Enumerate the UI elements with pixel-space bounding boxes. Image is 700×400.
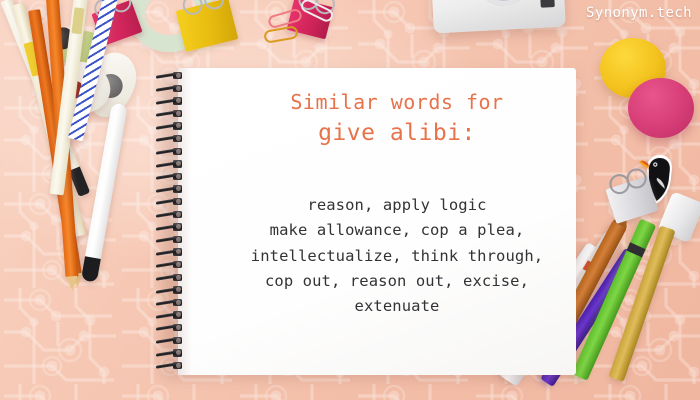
notebook: Similar words for give alibi: reason, ap… (152, 68, 576, 378)
synonym-line: intellectualize, think through, (218, 244, 576, 269)
paper-clip-white (299, 0, 335, 24)
synonym-line: cop out, reason out, excise, (218, 269, 576, 294)
pencil-orange-a (46, 0, 79, 278)
spiral-ring (156, 324, 183, 331)
spiral-ring (156, 223, 183, 230)
camera (430, 0, 566, 33)
binder-clip-yellow (176, 0, 239, 52)
paper-clip-pink (267, 8, 303, 30)
brand-logo: Synonym.tech (586, 5, 692, 21)
spiral-ring (156, 148, 183, 155)
marker-white-left (81, 103, 128, 283)
paper-clip-gold (263, 25, 299, 44)
spiral-binding (152, 64, 192, 379)
spiral-ring (156, 135, 183, 142)
binder-clip-pink-2 (287, 0, 334, 39)
washi-tape-roll (121, 0, 221, 60)
notebook-page: Similar words for give alibi: reason, ap… (178, 68, 576, 375)
pen-cream (50, 0, 88, 195)
spiral-ring (156, 261, 183, 268)
binder-clip-pink (91, 0, 142, 46)
glue-stick-cap (657, 191, 700, 243)
synonym-list: reason, apply logic make allowance, cop … (218, 193, 576, 319)
spiral-ring (156, 198, 183, 205)
toucan-sticker (635, 146, 683, 208)
camera-flash (540, 0, 555, 8)
camera-lens (474, 0, 533, 7)
spiral-ring (156, 160, 183, 167)
eraser-bird (57, 27, 108, 71)
eraser-fried-egg (45, 58, 114, 118)
spiral-ring (156, 299, 183, 306)
notebook-content: Similar words for give alibi: reason, ap… (218, 90, 576, 319)
spiral-ring (156, 362, 183, 369)
spiral-ring (156, 110, 183, 117)
spiral-ring (156, 337, 183, 344)
spiral-ring (156, 248, 183, 255)
page-title-term: give alibi: (218, 118, 576, 150)
macaron-yellow (600, 38, 666, 98)
screenshot-root: Similar words for give alibi: reason, ap… (0, 0, 700, 400)
macaron-pink (628, 78, 694, 138)
pen-blue-dotted (68, 0, 119, 141)
spiral-ring (156, 72, 183, 79)
pencil-orange-b (28, 9, 82, 276)
spiral-ring (156, 274, 183, 281)
spiral-ring (156, 185, 183, 192)
binder-clip-silver (606, 176, 659, 224)
spiral-ring (156, 236, 183, 243)
spiral-ring (156, 211, 183, 218)
spiral-ring (156, 122, 183, 129)
crayon-gold (608, 225, 675, 381)
eraser-avocado (79, 47, 143, 124)
pen-black-cap (0, 0, 90, 197)
synonym-line: extenuate (218, 294, 576, 319)
synonym-line: reason, apply logic (218, 193, 576, 218)
crayon-green (572, 219, 657, 381)
page-title-prefix: Similar words for (218, 90, 576, 116)
spiral-ring (156, 97, 183, 104)
synonym-line: make allowance, cop a plea, (218, 218, 576, 243)
spiral-ring (156, 286, 183, 293)
spiral-ring (156, 173, 183, 180)
pen-yellow-stripe (12, 2, 86, 237)
spiral-ring (156, 349, 183, 356)
spiral-ring (156, 85, 183, 92)
spiral-ring (156, 311, 183, 318)
